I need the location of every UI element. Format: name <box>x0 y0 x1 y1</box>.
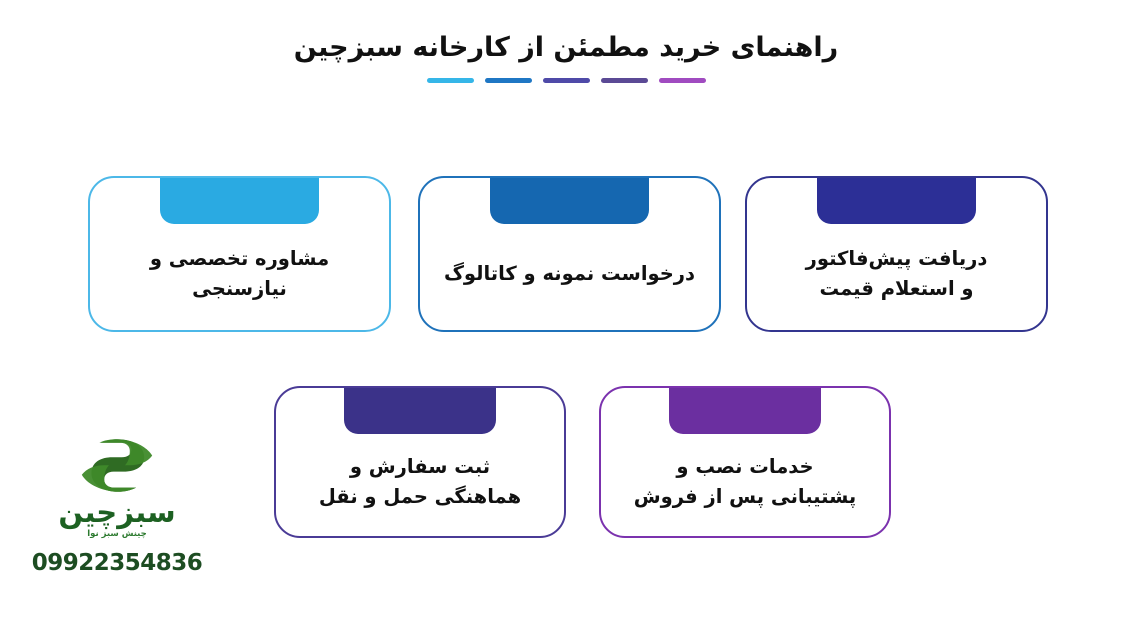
step-card-3[interactable]: دریافت پیش‌فاکتور و استعلام قیمت <box>745 176 1048 332</box>
step-card-2[interactable]: درخواست نمونه و کاتالوگ <box>418 176 721 332</box>
step-card-1-body: مشاوره تخصصی و نیازسنجی <box>90 224 389 330</box>
brand-tagline: چینش سبز نوا <box>22 530 212 539</box>
sabzchin-leaf-logo-icon <box>77 438 157 494</box>
brand-wordmark: سبزچین <box>22 498 212 527</box>
step-card-3-notch <box>747 178 1046 224</box>
title-divider <box>0 78 1132 83</box>
step-card-5-body: خدمات نصب و پشتیبانی پس از فروش <box>601 434 889 536</box>
step-card-2-body: درخواست نمونه و کاتالوگ <box>420 224 719 330</box>
divider-dash-3 <box>543 78 590 83</box>
contact-phone-number: 09922354836 <box>22 552 212 575</box>
header: راهنمای خرید مطمئن از کارخانه سبزچین <box>0 32 1132 83</box>
step-card-4-notch <box>276 388 564 434</box>
step-card-2-notch <box>420 178 719 224</box>
step-card-4-body: ثبت سفارش و هماهنگی حمل و نقل <box>276 434 564 536</box>
divider-dash-1 <box>427 78 474 83</box>
divider-dash-2 <box>485 78 532 83</box>
page-title: راهنمای خرید مطمئن از کارخانه سبزچین <box>0 32 1132 64</box>
step-card-1-notch <box>90 178 389 224</box>
step-card-5-label: خدمات نصب و پشتیبانی پس از فروش <box>634 452 857 512</box>
step-card-3-label: دریافت پیش‌فاکتور و استعلام قیمت <box>806 244 988 304</box>
divider-dash-4 <box>601 78 648 83</box>
step-card-4-label: ثبت سفارش و هماهنگی حمل و نقل <box>319 452 521 512</box>
step-card-5[interactable]: خدمات نصب و پشتیبانی پس از فروش <box>599 386 891 538</box>
brand-logo-block: سبزچین چینش سبز نوا 09922354836 <box>22 438 212 575</box>
step-card-1[interactable]: مشاوره تخصصی و نیازسنجی <box>88 176 391 332</box>
step-card-1-label: مشاوره تخصصی و نیازسنجی <box>104 244 375 304</box>
step-card-4[interactable]: ثبت سفارش و هماهنگی حمل و نقل <box>274 386 566 538</box>
step-card-3-body: دریافت پیش‌فاکتور و استعلام قیمت <box>747 224 1046 330</box>
step-card-2-label: درخواست نمونه و کاتالوگ <box>444 259 695 289</box>
divider-dash-5 <box>659 78 706 83</box>
step-card-5-notch <box>601 388 889 434</box>
